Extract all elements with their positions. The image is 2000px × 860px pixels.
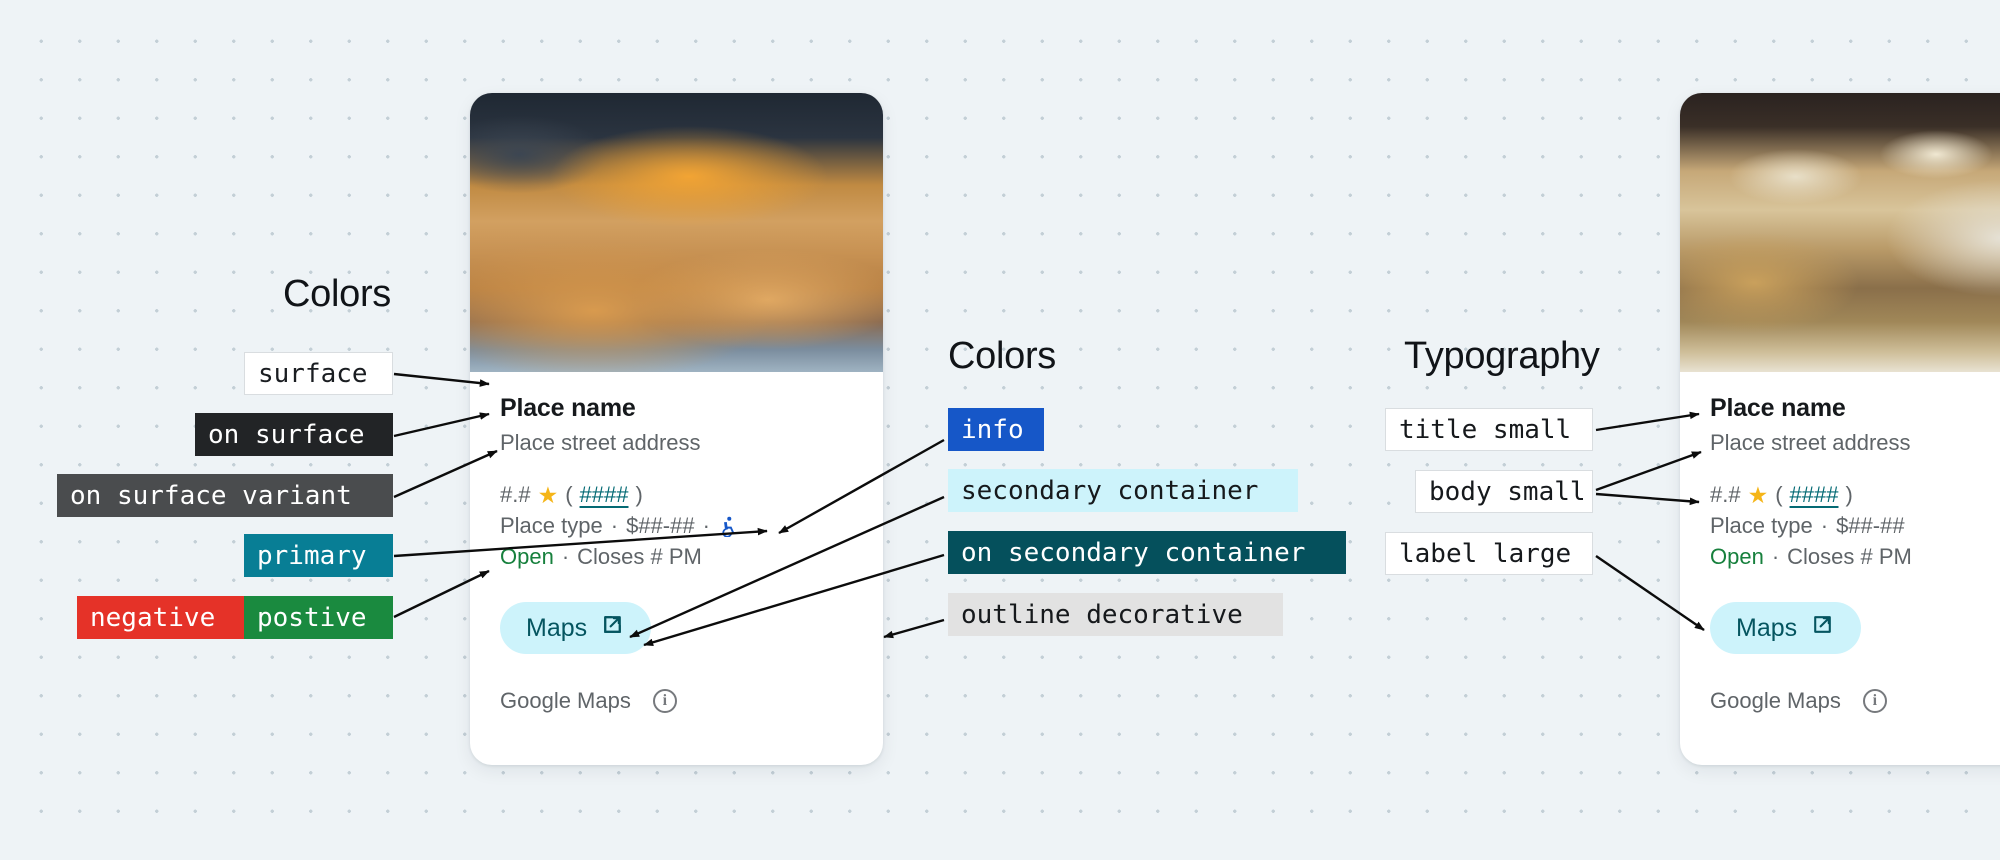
color-chip-label: surface xyxy=(258,361,368,387)
star-icon-right: ★ xyxy=(1748,484,1769,507)
place-card[interactable]: Place name Place street address #.# ★ (#… xyxy=(470,93,883,765)
place-address-right: Place street address xyxy=(1710,430,2000,456)
open-status-right: Open xyxy=(1710,544,1764,570)
colors-mid-heading: Colors xyxy=(948,335,1056,378)
type-chip-title-small[interactable]: title small xyxy=(1385,408,1593,451)
color-chip-on-surface[interactable]: on surface xyxy=(195,413,393,456)
canvas-edge-top xyxy=(0,0,2000,16)
color-chip-secondary-container[interactable]: secondary container xyxy=(948,469,1298,512)
color-chip-label: info xyxy=(961,417,1024,443)
maps-attribution-right: Google Maps xyxy=(1710,688,1841,714)
color-chip-on-secondary-container[interactable]: on secondary container xyxy=(948,531,1346,574)
maps-button-label: Maps xyxy=(526,614,587,643)
place-photo xyxy=(470,93,883,372)
type-chip-label: label large xyxy=(1399,541,1571,567)
place-meta-row: Place type · $##-## · xyxy=(500,513,853,539)
external-link-icon xyxy=(600,612,625,644)
external-link-icon-right xyxy=(1810,612,1835,644)
color-chip-outline-decorative[interactable]: outline decorative xyxy=(948,593,1283,636)
color-chip-label: negative xyxy=(90,605,215,631)
type-chip-label: title small xyxy=(1399,417,1571,443)
type-chip-label-large[interactable]: label large xyxy=(1385,532,1593,575)
color-chip-label: primary xyxy=(257,543,367,569)
paren-open-right: ( xyxy=(1775,482,1782,508)
place-address: Place street address xyxy=(500,430,853,456)
wheelchair-icon xyxy=(718,515,740,537)
place-type: Place type xyxy=(500,513,603,539)
closing-time-right: Closes # PM xyxy=(1787,544,1912,570)
color-chip-surface[interactable]: surface xyxy=(244,352,393,395)
card-footer-right: Google Maps i xyxy=(1710,688,2000,714)
color-chip-info[interactable]: info xyxy=(948,408,1044,451)
maps-attribution: Google Maps xyxy=(500,688,631,714)
maps-button-right[interactable]: Maps xyxy=(1710,602,1861,654)
place-name-right: Place name xyxy=(1710,394,2000,423)
place-photo-right xyxy=(1680,93,2000,372)
info-icon[interactable]: i xyxy=(653,689,677,713)
color-chip-label: on secondary container xyxy=(961,540,1305,566)
card-footer: Google Maps i xyxy=(500,688,853,714)
color-chip-label: postive xyxy=(257,605,367,631)
rating-row-right: #.# ★ (####) xyxy=(1710,482,2000,508)
hours-separator-right: · xyxy=(1772,544,1779,570)
place-card-body: Place name Place street address #.# ★ (#… xyxy=(470,394,883,714)
meta-separator-right: · xyxy=(1821,513,1828,539)
rating-value-right: #.# xyxy=(1710,482,1741,508)
type-chip-body-small[interactable]: body small xyxy=(1415,470,1593,513)
maps-button[interactable]: Maps xyxy=(500,602,651,654)
rating-row: #.# ★ (####) xyxy=(500,482,853,508)
place-card-right[interactable]: Place name Place street address #.# ★ (#… xyxy=(1680,93,2000,765)
place-card-right-body: Place name Place street address #.# ★ (#… xyxy=(1680,394,2000,714)
hours-separator: · xyxy=(562,544,569,570)
place-hours-row-right: Open · Closes # PM xyxy=(1710,544,2000,570)
colors-left-heading: Colors xyxy=(283,273,391,316)
price-range: $##-## xyxy=(626,513,695,539)
place-name: Place name xyxy=(500,394,853,423)
review-count-link[interactable]: #### xyxy=(580,482,629,508)
maps-button-label-right: Maps xyxy=(1736,614,1797,643)
color-chip-negative[interactable]: negative xyxy=(77,596,244,639)
star-icon: ★ xyxy=(538,484,559,507)
color-chip-label: secondary container xyxy=(961,478,1258,504)
price-range-right: $##-## xyxy=(1836,513,1905,539)
closing-time: Closes # PM xyxy=(577,544,702,570)
place-hours-row: Open · Closes # PM xyxy=(500,544,853,570)
place-type-right: Place type xyxy=(1710,513,1813,539)
color-chip-on-surface-variant[interactable]: on surface variant xyxy=(57,474,393,517)
info-icon-right[interactable]: i xyxy=(1863,689,1887,713)
color-chip-primary[interactable]: primary xyxy=(244,534,393,577)
color-chip-label: on surface variant xyxy=(70,483,352,509)
paren-close-right: ) xyxy=(1846,482,1853,508)
open-status: Open xyxy=(500,544,554,570)
canvas-edge-bottom xyxy=(0,844,2000,860)
paren-close: ) xyxy=(636,482,643,508)
color-chip-label: on surface xyxy=(208,422,365,448)
color-chip-label: outline decorative xyxy=(961,602,1243,628)
meta-separator-2: · xyxy=(703,513,710,539)
paren-open: ( xyxy=(565,482,572,508)
rating-value: #.# xyxy=(500,482,531,508)
color-chip-postive[interactable]: postive xyxy=(244,596,393,639)
canvas-edge-left xyxy=(0,0,16,860)
review-count-link-right[interactable]: #### xyxy=(1790,482,1839,508)
meta-separator-1: · xyxy=(611,513,618,539)
place-meta-row-right: Place type · $##-## xyxy=(1710,513,2000,539)
typography-heading: Typography xyxy=(1404,335,1600,378)
type-chip-label: body small xyxy=(1429,479,1586,505)
